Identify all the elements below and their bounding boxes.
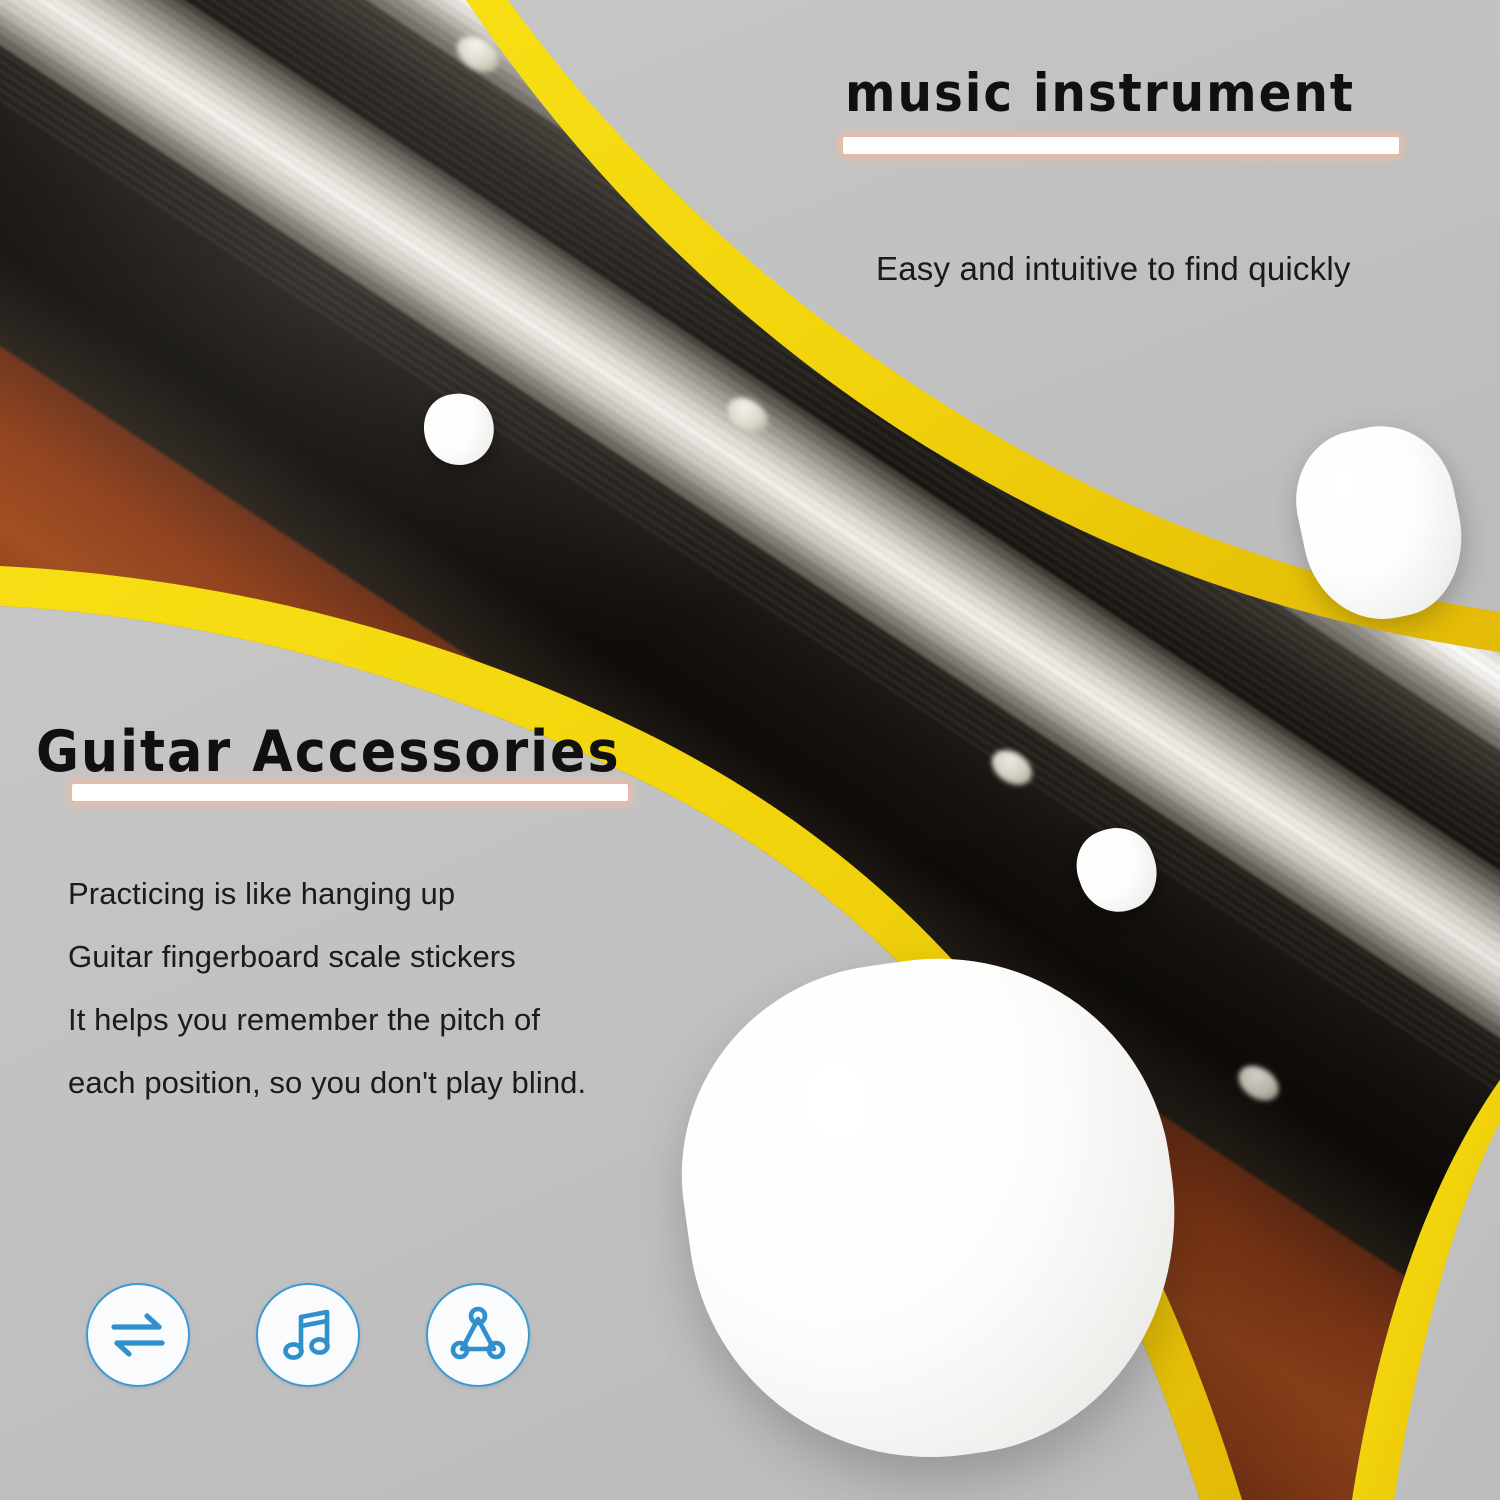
body-line: Practicing is like hanging up — [68, 862, 586, 925]
product-infographic-canvas: music instrument Easy and intuitive to f… — [0, 0, 1500, 1500]
subtitle-top: Easy and intuitive to find quickly — [876, 250, 1351, 288]
feature-icon-row — [86, 1283, 530, 1387]
body-line: Guitar fingerboard scale stickers — [68, 925, 586, 988]
page-title-bottom: Guitar Accessories — [36, 718, 621, 785]
title-underline-top — [843, 137, 1399, 154]
music-note-icon — [279, 1306, 337, 1364]
exchange-arrows-icon — [107, 1304, 169, 1366]
feature-badge-network[interactable] — [426, 1283, 530, 1387]
page-title-top: music instrument — [845, 62, 1355, 123]
title-underline-bottom — [72, 784, 628, 801]
feature-badge-exchange[interactable] — [86, 1283, 190, 1387]
body-line: each position, so you don't play blind. — [68, 1051, 586, 1114]
body-line: It helps you remember the pitch of — [68, 988, 586, 1051]
network-triangle-icon — [448, 1305, 508, 1365]
body-copy-block: Practicing is like hanging up Guitar fin… — [68, 862, 586, 1114]
feature-badge-music-note[interactable] — [256, 1283, 360, 1387]
